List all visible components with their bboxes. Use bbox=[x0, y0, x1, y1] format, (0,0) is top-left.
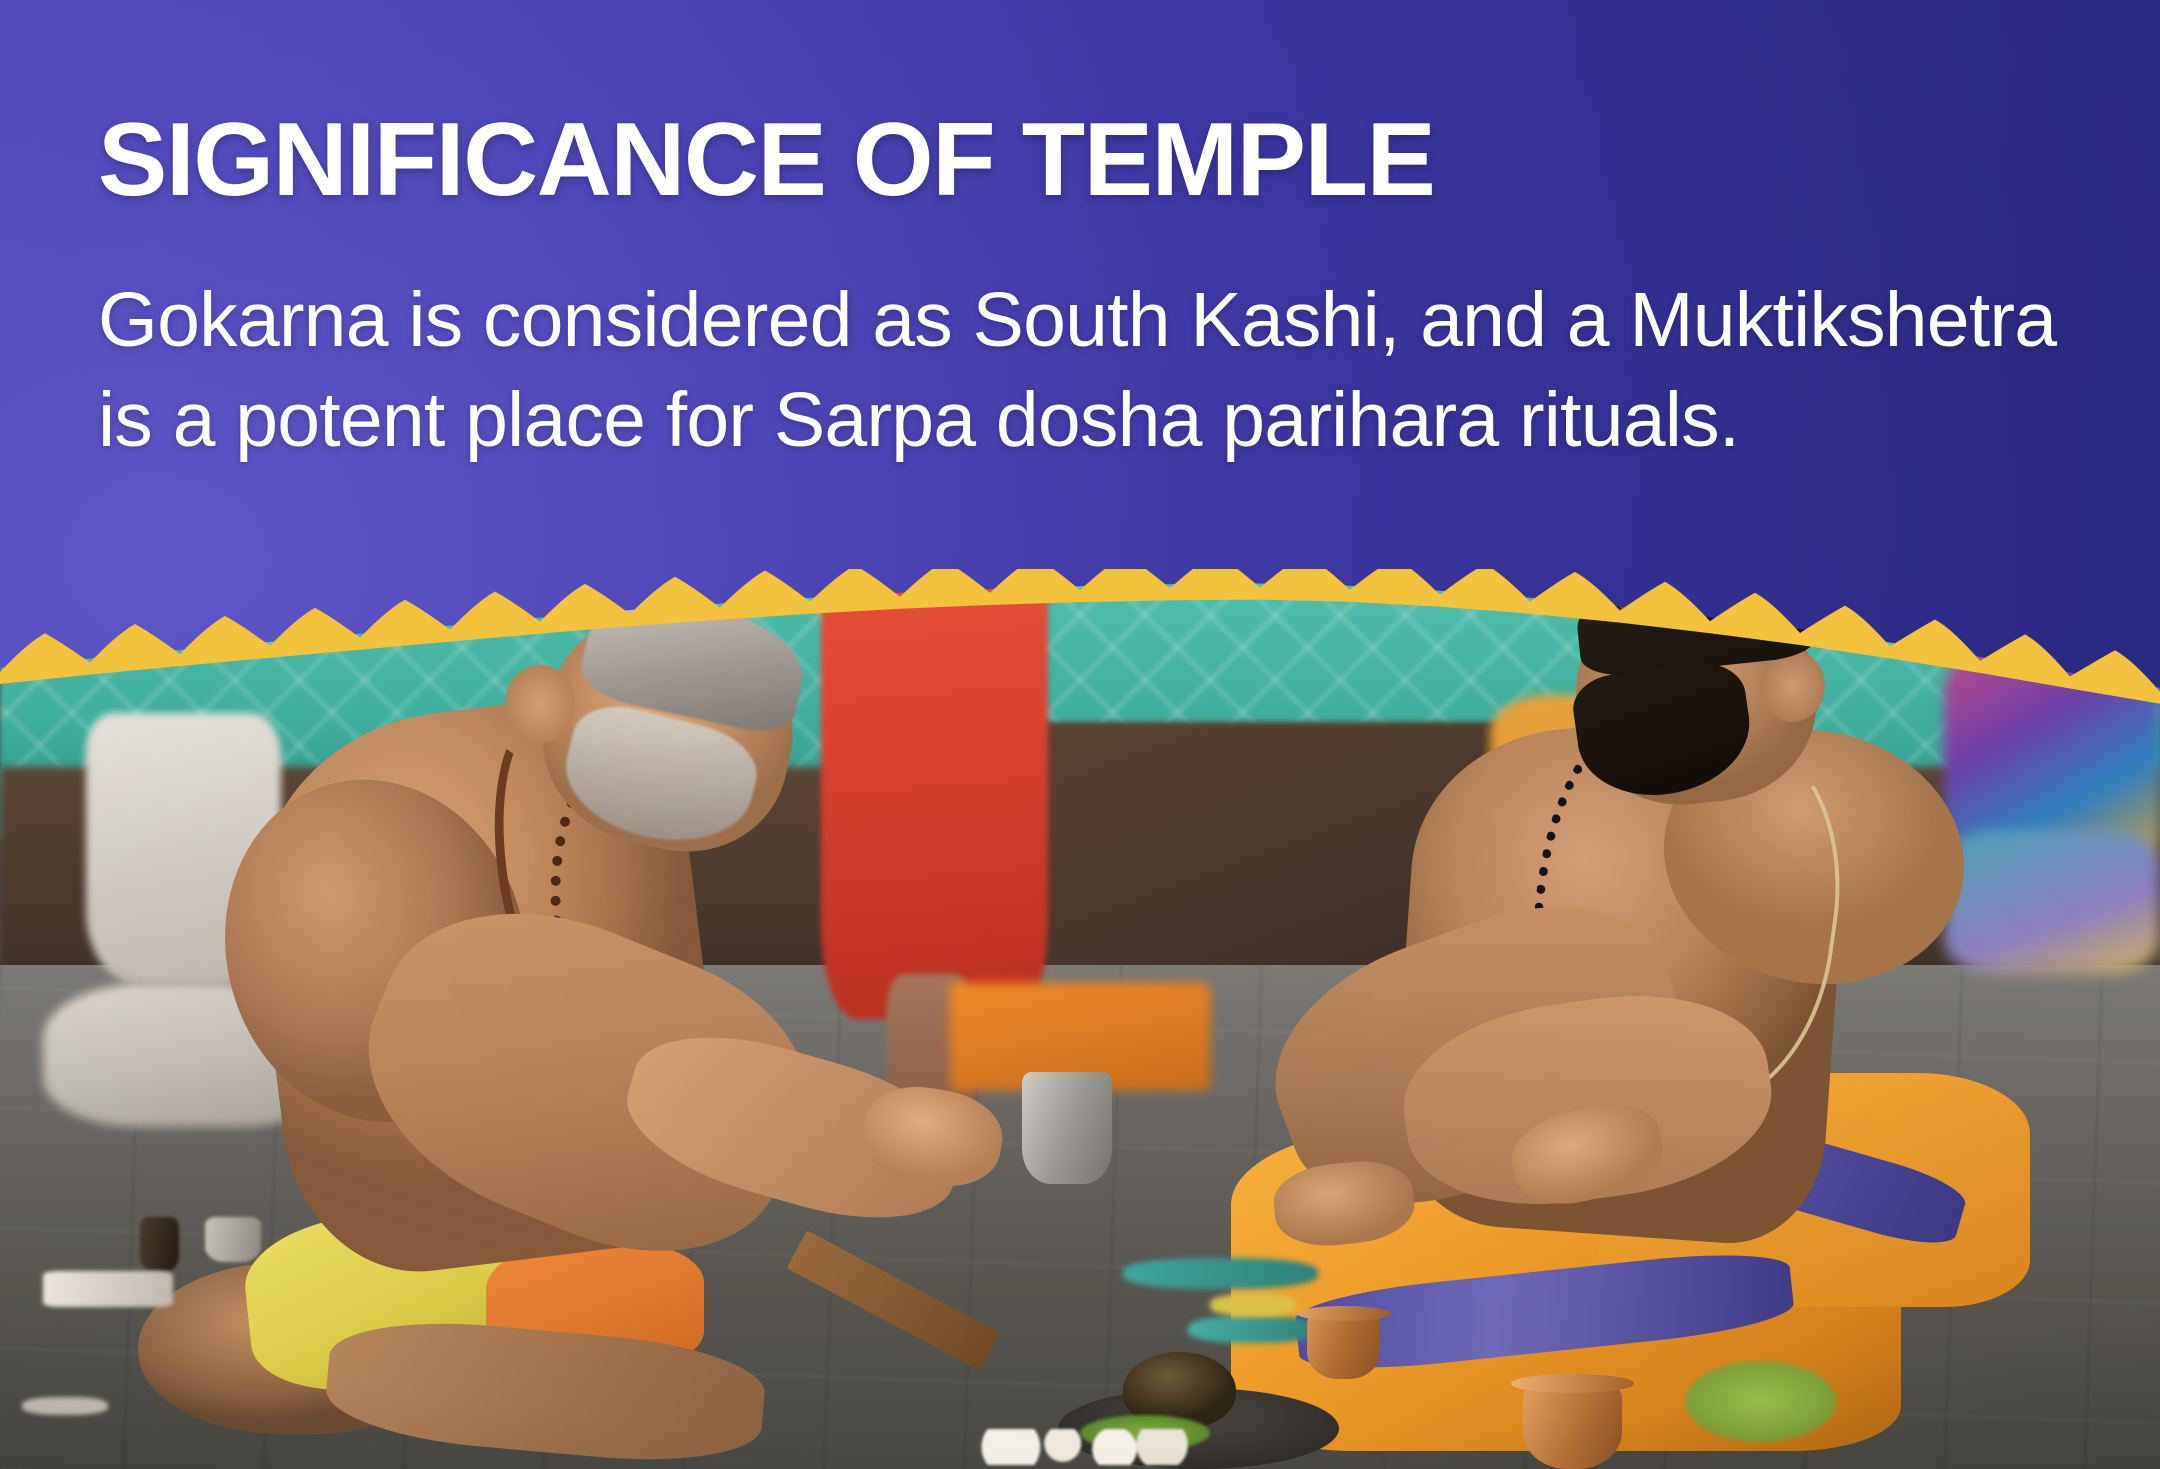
subtitle-line-2: is a potent place for Sarpa dosha pariha… bbox=[98, 370, 1888, 470]
text-block: SIGNIFICANCE OF TEMPLE Gokarna is consid… bbox=[98, 108, 1998, 470]
ritual-photograph bbox=[0, 569, 2160, 1469]
page-title: SIGNIFICANCE OF TEMPLE bbox=[98, 108, 1998, 212]
photo-content bbox=[0, 569, 2160, 1469]
photo-colour-grade bbox=[0, 569, 2160, 1469]
page-subtitle: Gokarna is considered as South Kashi, an… bbox=[98, 270, 1888, 470]
subtitle-line-1: Gokarna is considered as South Kashi, an… bbox=[98, 270, 1888, 370]
slide-canvas: SIGNIFICANCE OF TEMPLE Gokarna is consid… bbox=[0, 0, 2160, 1469]
